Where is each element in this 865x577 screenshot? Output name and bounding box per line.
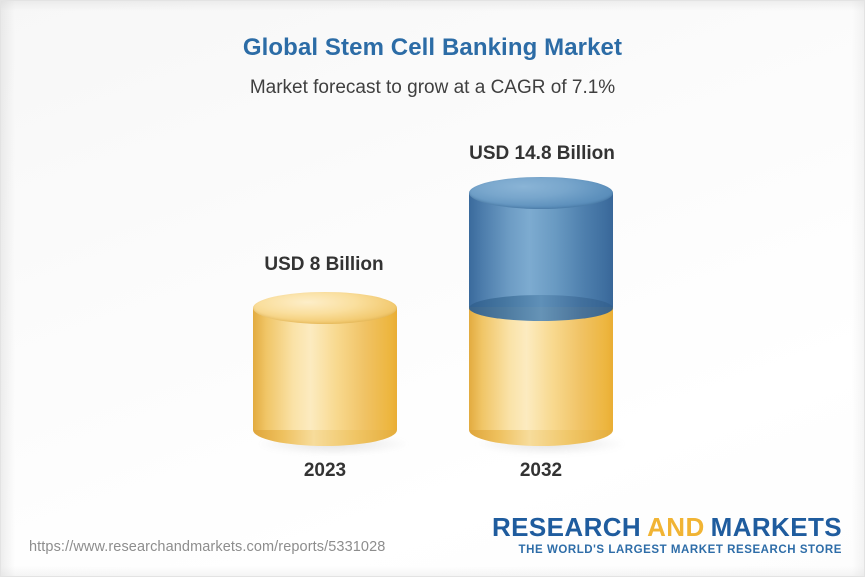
bar-category-label-2032: 2032 [411,460,671,482]
bar-segment-seam-2032 [469,295,613,321]
chart-subtitle: Market forecast to grow at a CAGR of 7.1… [1,77,864,99]
chart-title: Global Stem Cell Banking Market [1,34,864,62]
research-and-markets-logo[interactable]: RESEARCHANDMARKETS THE WORLD'S LARGEST M… [492,514,842,556]
bar-body-upper-2032 [469,193,613,307]
bar-body-lower-2032 [469,307,613,430]
bar-value-label-2023: USD 8 Billion [194,254,454,276]
logo-word-research: RESEARCH [492,512,641,542]
logo-word-markets: MARKETS [711,512,842,542]
logo-wordmark: RESEARCHANDMARKETS [492,514,842,541]
bar-value-label-2032: USD 14.8 Billion [412,143,672,165]
bar-cylinder-2023[interactable] [253,292,397,447]
bar-cylinder-2032[interactable] [469,177,613,447]
bar-top-cap-2032 [469,177,613,209]
bar-body-2023 [253,308,397,430]
chart-canvas: Global Stem Cell Banking Market Market f… [0,0,865,577]
logo-tagline: THE WORLD'S LARGEST MARKET RESEARCH STOR… [492,544,842,556]
report-url-link[interactable]: https://www.researchandmarkets.com/repor… [29,539,385,555]
canvas-edge-shading-bottom [1,566,864,576]
logo-word-and: AND [647,512,705,542]
canvas-edge-shading-top [1,1,864,11]
bar-top-cap-2023 [253,292,397,324]
